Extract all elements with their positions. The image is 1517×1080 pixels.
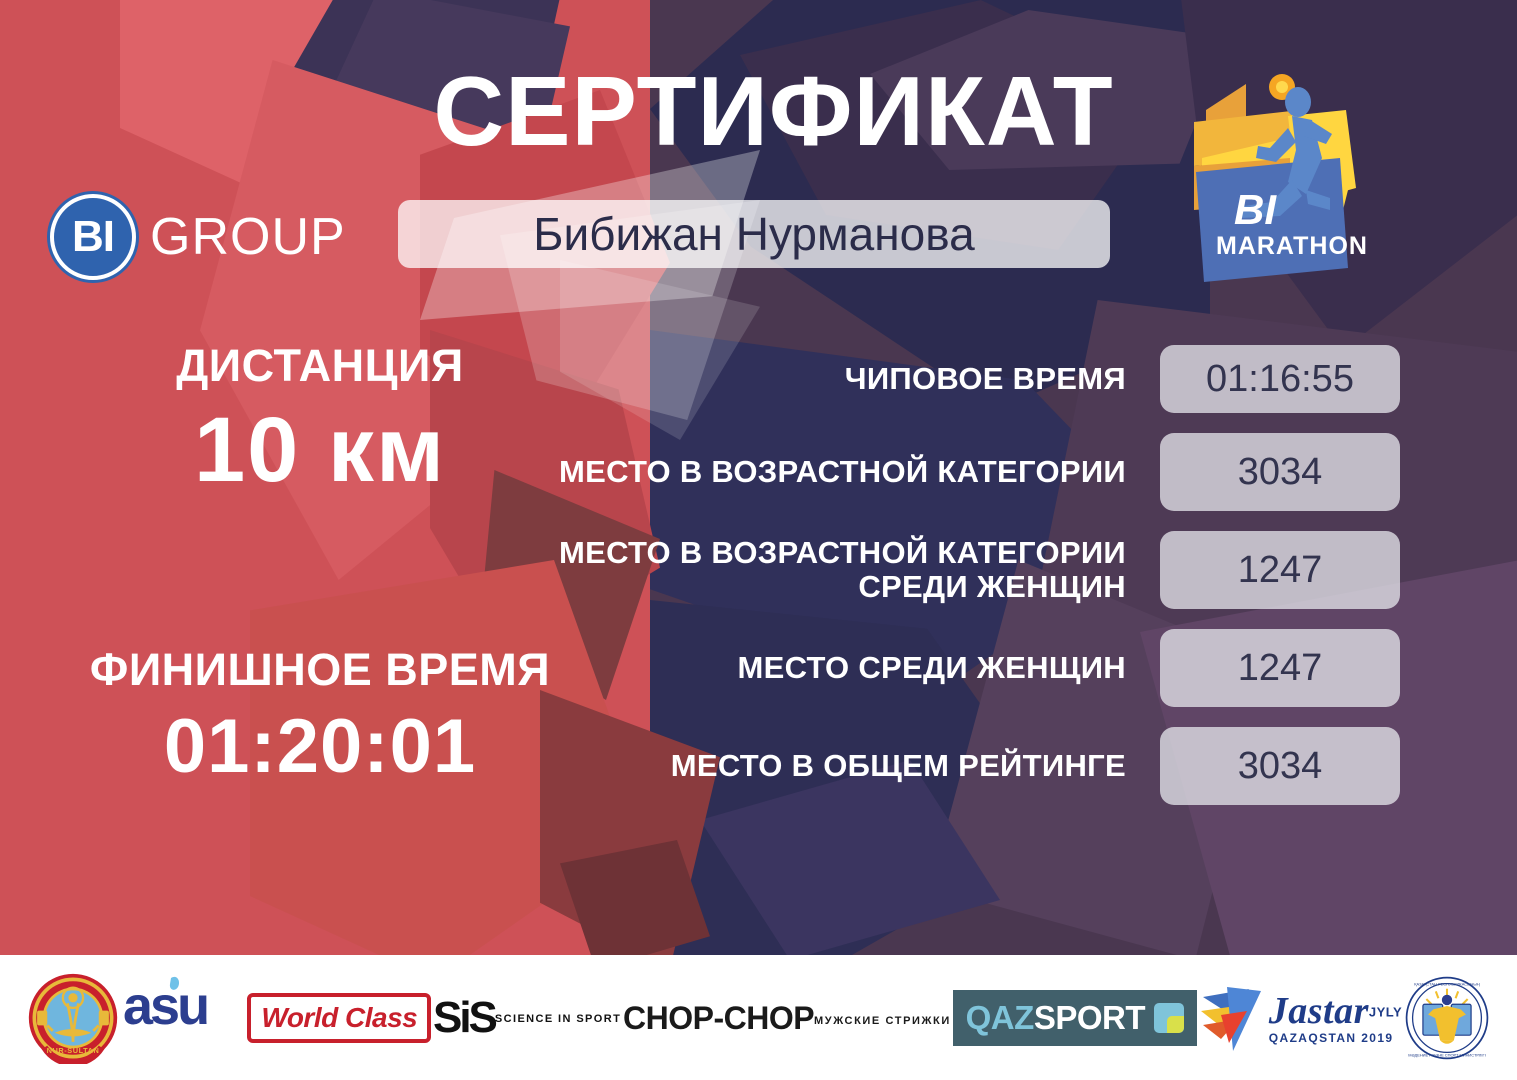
- certificate-canvas: СЕРТИФИКАТ BI GROUP Бибижан Нурманова: [0, 0, 1517, 1080]
- jastar-jyly-text: JYLY: [1369, 1004, 1402, 1019]
- bi-group-logo: BI GROUP: [50, 194, 346, 280]
- stat-label: МЕСТО В ОБЩЕМ РЕЙТИНГЕ: [520, 749, 1160, 783]
- stat-label: ЧИПОВОЕ ВРЕМЯ: [520, 362, 1160, 396]
- bi-marathon-icon: BI MARATHON: [1180, 62, 1380, 297]
- chop-chop-tagline: МУЖСКИЕ СТРИЖКИ: [814, 1015, 951, 1027]
- participant-name: Бибижан Нурманова: [533, 207, 974, 261]
- sponsor-ministry: ҚАЗАҚСТАН РЕСПУБЛИКАСЫНЫҢ МӘДЕНИЕТ ЖӘНЕ …: [1404, 972, 1490, 1064]
- bi-circle-icon: BI: [50, 194, 136, 280]
- stat-row: МЕСТО СРЕДИ ЖЕНЩИН 1247: [520, 629, 1400, 707]
- sis-tagline: SCIENCE IN SPORT: [495, 1013, 621, 1025]
- stat-value: 3034: [1238, 451, 1323, 494]
- bi-group-wordmark: GROUP: [150, 207, 346, 267]
- stats-list: ЧИПОВОЕ ВРЕМЯ 01:16:55 МЕСТО В ВОЗРАСТНО…: [520, 345, 1400, 825]
- stat-value-pill: 1247: [1160, 531, 1400, 609]
- sponsor-sis: SiS SCIENCE IN SPORT: [433, 972, 621, 1064]
- chop-chop-wordmark: CHOP-CHOP: [623, 1002, 814, 1034]
- qazsport-text-qaz: QAZ: [966, 999, 1034, 1036]
- svg-text:МӘДЕНИЕТ ЖӘНЕ СПОРТ МИНИСТРЛІГ: МӘДЕНИЕТ ЖӘНЕ СПОРТ МИНИСТРЛІГІ: [1408, 1052, 1485, 1057]
- sponsor-bar: NUR-SULTAN asu World Class SiS SCIENCE I…: [0, 955, 1517, 1080]
- stat-row: МЕСТО В ВОЗРАСТНОЙ КАТЕГОРИИ 3034: [520, 433, 1400, 511]
- distance-block: ДИСТАНЦИЯ 10 км: [60, 340, 580, 503]
- svg-text:BI: BI: [1234, 186, 1277, 233]
- jastar-wordmark: Jastar: [1269, 990, 1369, 1032]
- asu-logo-icon: asu: [121, 972, 246, 1034]
- svg-text:asu: asu: [123, 976, 207, 1034]
- sponsor-jastar: JastarJYLY QAZAQSTAN 2019: [1199, 972, 1402, 1064]
- stat-value: 01:16:55: [1206, 358, 1354, 401]
- qazsport-text-sport: SPORT: [1034, 999, 1145, 1036]
- stat-label: МЕСТО В ВОЗРАСТНОЙ КАТЕГОРИИ СРЕДИ ЖЕНЩИ…: [520, 536, 1160, 604]
- stat-row: ЧИПОВОЕ ВРЕМЯ 01:16:55: [520, 345, 1400, 413]
- stat-row: МЕСТО В ВОЗРАСТНОЙ КАТЕГОРИИ СРЕДИ ЖЕНЩИ…: [520, 531, 1400, 609]
- nur-sultan-emblem-icon: NUR-SULTAN: [27, 972, 119, 1064]
- stat-value-pill: 3034: [1160, 433, 1400, 511]
- finish-time-value: 01:20:01: [60, 703, 580, 790]
- jastar-subtitle: QAZAQSTAN 2019: [1269, 1032, 1402, 1044]
- participant-name-pill: Бибижан Нурманова: [398, 200, 1110, 268]
- sponsor-nur-sultan: NUR-SULTAN: [27, 972, 119, 1064]
- stat-row: МЕСТО В ОБЩЕМ РЕЙТИНГЕ 3034: [520, 727, 1400, 805]
- svg-text:ҚАЗАҚСТАН РЕСПУБЛИКАСЫНЫҢ: ҚАЗАҚСТАН РЕСПУБЛИКАСЫНЫҢ: [1414, 981, 1480, 986]
- stat-value: 1247: [1238, 549, 1323, 592]
- world-class-wordmark: World Class: [247, 993, 431, 1043]
- stat-value: 1247: [1238, 647, 1323, 690]
- qazsport-logo: QAZSPORT: [953, 990, 1197, 1046]
- qazsport-square-icon: [1154, 1003, 1184, 1033]
- sponsor-qazsport: QAZSPORT: [953, 972, 1197, 1064]
- sis-wordmark: SiS: [433, 998, 495, 1038]
- bi-marathon-logo: BI MARATHON: [1180, 62, 1380, 297]
- sponsor-chop-chop: CHOP-CHOP МУЖСКИЕ СТРИЖКИ: [623, 972, 951, 1064]
- finish-time-label: ФИНИШНОЕ ВРЕМЯ: [60, 645, 580, 695]
- stat-label: МЕСТО СРЕДИ ЖЕНЩИН: [520, 651, 1160, 685]
- stat-label: МЕСТО В ВОЗРАСТНОЙ КАТЕГОРИИ: [520, 455, 1160, 489]
- ministry-emblem-icon: ҚАЗАҚСТАН РЕСПУБЛИКАСЫНЫҢ МӘДЕНИЕТ ЖӘНЕ …: [1404, 975, 1490, 1061]
- sponsor-asu: asu: [121, 972, 246, 1064]
- bi-mark-text: BI: [72, 212, 114, 262]
- jastar-arrow-icon: [1199, 981, 1265, 1055]
- distance-value: 10 км: [60, 398, 580, 503]
- sponsor-world-class: World Class: [247, 972, 431, 1064]
- distance-label: ДИСТАНЦИЯ: [60, 340, 580, 392]
- stat-value-pill: 1247: [1160, 629, 1400, 707]
- stat-value: 3034: [1238, 745, 1323, 788]
- finish-time-block: ФИНИШНОЕ ВРЕМЯ 01:20:01: [60, 645, 580, 790]
- stat-value-pill: 3034: [1160, 727, 1400, 805]
- stat-value-pill: 01:16:55: [1160, 345, 1400, 413]
- svg-text:MARATHON: MARATHON: [1216, 232, 1368, 260]
- svg-text:NUR-SULTAN: NUR-SULTAN: [47, 1045, 100, 1054]
